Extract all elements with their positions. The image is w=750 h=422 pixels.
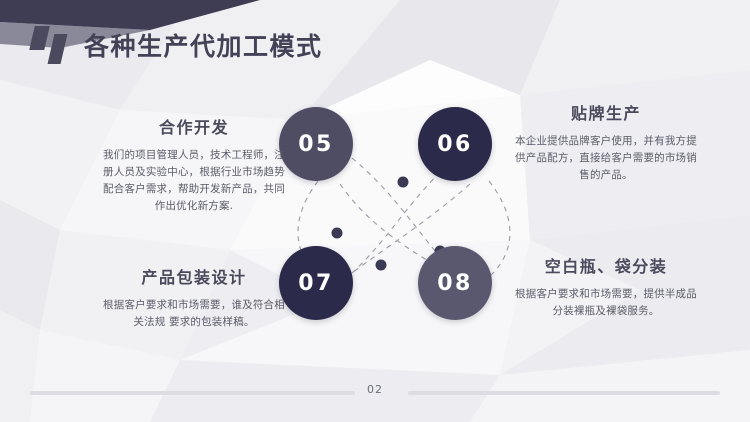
slide-header: 各种生产代加工模式 (0, 0, 750, 88)
block-body: 根据客户要求和市场需要，提供半成品分装裸瓶及裸袋服务。 (513, 286, 699, 320)
page-number: 02 (0, 383, 750, 396)
node-label: 05 (298, 132, 334, 157)
brand-logo-icon (30, 26, 76, 64)
content-block-top-right: 贴牌生产 本企业提供品牌客户使用，并有我方提供产品配方，直接给客户需要的市场销售… (513, 100, 699, 184)
node-label: 06 (437, 132, 473, 157)
page-title: 各种生产代加工模式 (84, 27, 323, 63)
node-label: 07 (298, 271, 334, 296)
block-body: 本企业提供品牌客户使用，并有我方提供产品配方，直接给客户需要的市场销售的产品。 (513, 133, 699, 184)
node-circle-07[interactable]: 07 (279, 246, 353, 320)
content-block-bottom-right: 空白瓶、袋分装 根据客户要求和市场需要，提供半成品分装裸瓶及裸袋服务。 (513, 253, 699, 320)
block-heading: 贴牌生产 (513, 100, 699, 124)
content-block-top-left: 合作开发 我们的项目管理人员，技术工程师，注册人员及实验中心，根据行业市场趋势配… (101, 114, 287, 215)
content-block-bottom-left: 产品包装设计 根据客户要求和市场需要，谁及符合相关法规 要求的包装样稿。 (101, 264, 287, 331)
node-circle-05[interactable]: 05 (279, 107, 353, 181)
slide-canvas: 各种生产代加工模式 05 06 07 08 (0, 0, 750, 422)
slide-footer: 02 (0, 383, 750, 403)
node-label: 08 (437, 271, 473, 296)
block-body: 我们的项目管理人员，技术工程师，注册人员及实验中心，根据行业市场趋势配合客户需求… (101, 147, 287, 215)
node-circle-06[interactable]: 06 (418, 107, 492, 181)
node-circle-08[interactable]: 08 (418, 246, 492, 320)
process-diagram: 05 06 07 08 合作开发 我们的项目管理人员，技术工程师，注册人员及实验… (0, 88, 750, 370)
block-heading: 合作开发 (101, 114, 287, 138)
block-heading: 空白瓶、袋分装 (513, 253, 699, 277)
block-heading: 产品包装设计 (101, 264, 287, 288)
block-body: 根据客户要求和市场需要，谁及符合相关法规 要求的包装样稿。 (101, 297, 287, 331)
